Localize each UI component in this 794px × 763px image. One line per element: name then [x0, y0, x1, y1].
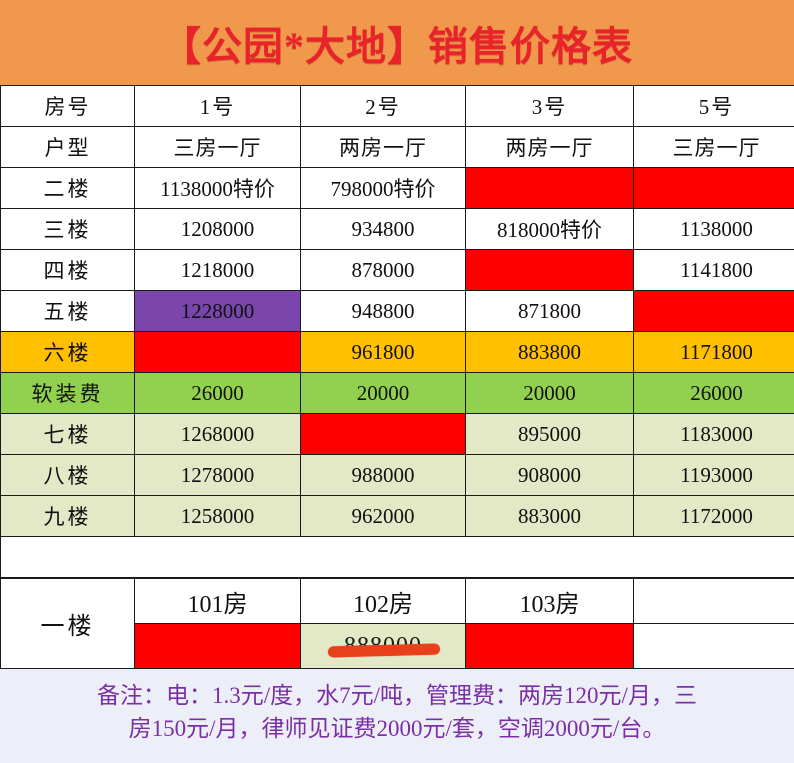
spacer-cell	[1, 537, 794, 578]
price-sheet-page: 【公园*大地】销售价格表 房号 1号 2号 3号 5号 户型 三房一厅 两房一厅…	[0, 0, 794, 749]
price-cell[interactable]: 1183000	[634, 414, 794, 455]
struck-price-wrap: 888000	[344, 634, 422, 658]
floor-label: 二楼	[1, 168, 135, 209]
floor-label: 五楼	[1, 291, 135, 332]
footnote-line-1: 备注：电：1.3元/度，水7元/吨，管理费：两房120元/月，三	[8, 679, 786, 712]
price-cell[interactable]: 1138000特价	[135, 168, 301, 209]
price-cell[interactable]: 1208000	[135, 209, 301, 250]
table-row: 九楼 1258000 962000 883000 1172000	[1, 496, 794, 537]
price-cell[interactable]: 908000	[466, 455, 634, 496]
layout-room-1: 三房一厅	[135, 127, 301, 168]
ground-price-sold-103[interactable]	[466, 624, 634, 669]
ground-floor-table: 一楼 101房 102房 103房 888000	[0, 578, 794, 669]
table-row-room-header: 房号 1号 2号 3号 5号	[1, 86, 794, 127]
table-row: 八楼 1278000 988000 908000 1193000	[1, 455, 794, 496]
price-cell[interactable]: 878000	[301, 250, 466, 291]
table-row: 七楼 1268000 895000 1183000	[1, 414, 794, 455]
layout-room-3: 两房一厅	[466, 127, 634, 168]
price-cell[interactable]: 895000	[466, 414, 634, 455]
price-cell-sold[interactable]	[634, 168, 794, 209]
price-cell-sold[interactable]	[466, 168, 634, 209]
header-layout-label: 户型	[1, 127, 135, 168]
price-cell[interactable]: 818000特价	[466, 209, 634, 250]
floor-label: 九楼	[1, 496, 135, 537]
price-cell-sold[interactable]	[634, 291, 794, 332]
header-room-1: 1号	[135, 86, 301, 127]
footnote-line-2: 房150元/月，律师见证费2000元/套，空调2000元/台。	[8, 712, 786, 745]
price-cell[interactable]: 962000	[301, 496, 466, 537]
price-cell[interactable]: 1138000	[634, 209, 794, 250]
price-cell[interactable]: 1278000	[135, 455, 301, 496]
ground-room-101: 101房	[135, 579, 301, 624]
soft-furnish-cell[interactable]: 26000	[634, 373, 794, 414]
price-cell[interactable]: 948800	[301, 291, 466, 332]
table-row: 五楼 1228000 948800 871800	[1, 291, 794, 332]
price-cell[interactable]: 1171800	[634, 332, 794, 373]
price-cell[interactable]: 798000特价	[301, 168, 466, 209]
floor-label: 四楼	[1, 250, 135, 291]
table-row: 四楼 1218000 878000 1141800	[1, 250, 794, 291]
table-row: 六楼 961800 883800 1171800	[1, 332, 794, 373]
price-cell[interactable]: 1193000	[634, 455, 794, 496]
floor-label: 七楼	[1, 414, 135, 455]
table-row: 软装费 26000 20000 20000 26000	[1, 373, 794, 414]
price-cell[interactable]: 1268000	[135, 414, 301, 455]
ground-empty-cell	[634, 579, 794, 624]
layout-room-5: 三房一厅	[634, 127, 794, 168]
price-cell[interactable]: 934800	[301, 209, 466, 250]
soft-furnish-label: 软装费	[1, 373, 135, 414]
price-cell[interactable]: 883000	[466, 496, 634, 537]
price-cell[interactable]: 1218000	[135, 250, 301, 291]
table-row: 二楼 1138000特价 798000特价	[1, 168, 794, 209]
ground-price-sold-101[interactable]	[135, 624, 301, 669]
floor-label: 三楼	[1, 209, 135, 250]
ground-floor-body: 一楼 101房 102房 103房 888000	[1, 579, 794, 669]
soft-furnish-cell[interactable]: 20000	[301, 373, 466, 414]
table-spacer-row	[1, 537, 794, 578]
table-row: 三楼 1208000 934800 818000特价 1138000	[1, 209, 794, 250]
price-cell[interactable]: 871800	[466, 291, 634, 332]
soft-furnish-cell[interactable]: 26000	[135, 373, 301, 414]
price-cell-reserved[interactable]: 1228000	[135, 291, 301, 332]
title-banner: 【公园*大地】销售价格表	[0, 0, 794, 85]
floor-label: 八楼	[1, 455, 135, 496]
floor-label: 六楼	[1, 332, 135, 373]
price-table-body: 房号 1号 2号 3号 5号 户型 三房一厅 两房一厅 两房一厅 三房一厅 二楼…	[1, 86, 794, 578]
price-cell[interactable]: 1172000	[634, 496, 794, 537]
page-title: 【公园*大地】销售价格表	[161, 14, 633, 72]
header-room-label: 房号	[1, 86, 135, 127]
price-cell-sold[interactable]	[301, 414, 466, 455]
price-cell[interactable]: 1258000	[135, 496, 301, 537]
strikethrough-mark-icon	[328, 643, 440, 657]
header-room-5: 5号	[634, 86, 794, 127]
price-cell[interactable]: 883800	[466, 332, 634, 373]
price-cell-sold[interactable]	[466, 250, 634, 291]
table-row-ground-rooms: 一楼 101房 102房 103房	[1, 579, 794, 624]
layout-room-2: 两房一厅	[301, 127, 466, 168]
ground-floor-label: 一楼	[1, 579, 135, 669]
ground-empty-cell	[634, 624, 794, 669]
price-cell-sold[interactable]	[135, 332, 301, 373]
table-row-layout-header: 户型 三房一厅 两房一厅 两房一厅 三房一厅	[1, 127, 794, 168]
soft-furnish-cell[interactable]: 20000	[466, 373, 634, 414]
header-room-3: 3号	[466, 86, 634, 127]
ground-price-102[interactable]: 888000	[301, 624, 466, 669]
price-cell[interactable]: 988000	[301, 455, 466, 496]
price-table: 房号 1号 2号 3号 5号 户型 三房一厅 两房一厅 两房一厅 三房一厅 二楼…	[0, 85, 794, 578]
header-room-2: 2号	[301, 86, 466, 127]
price-cell[interactable]: 961800	[301, 332, 466, 373]
ground-room-103: 103房	[466, 579, 634, 624]
ground-room-102: 102房	[301, 579, 466, 624]
price-cell[interactable]: 1141800	[634, 250, 794, 291]
